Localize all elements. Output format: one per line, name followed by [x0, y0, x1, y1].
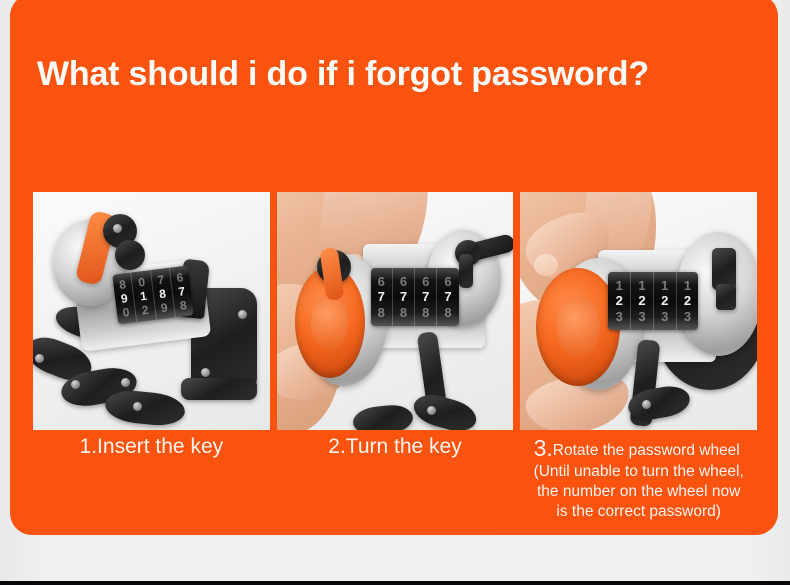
step-2-caption: 2.Turn the key	[277, 435, 514, 522]
step-1-label: 1.Insert the key	[33, 435, 270, 460]
step-3-subline-2: the number on the wheel now	[520, 482, 757, 502]
step-1-caption: 1.Insert the key	[33, 435, 270, 522]
step-3-headline: 3.Rotate the password wheel	[516, 435, 757, 461]
instruction-card: What should i do if i forgot password?	[10, 0, 778, 535]
caption-row: 1.Insert the key 2.Turn the key 3.Rotate…	[33, 435, 757, 522]
step-3-number: 3.	[534, 435, 553, 461]
step-3-caption: 3.Rotate the password wheel (Until unabl…	[520, 435, 757, 522]
page-title: What should i do if i forgot password?	[37, 56, 767, 93]
step-2-dial: 678 678 678 678	[371, 268, 459, 326]
step-3-subtext: (Until unable to turn the wheel, the num…	[520, 462, 757, 521]
step-1-dial: 890 012 789 678	[112, 266, 194, 325]
step-3-dial: 123 123 123 123	[608, 272, 698, 330]
step-3-subline-3: is the correct password)	[520, 502, 757, 522]
step-3-label: Rotate the password wheel	[553, 442, 740, 459]
step-3-photo: 123 123 123 123	[520, 192, 757, 430]
step-3-subline-1: (Until unable to turn the wheel,	[520, 462, 757, 482]
bottom-strip	[0, 581, 790, 585]
step-2-label: 2.Turn the key	[277, 435, 514, 460]
photo-strip: 890 012 789 678	[33, 192, 757, 430]
step-2-photo: 678 678 678 678	[277, 192, 514, 430]
step-1-photo: 890 012 789 678	[33, 192, 270, 430]
